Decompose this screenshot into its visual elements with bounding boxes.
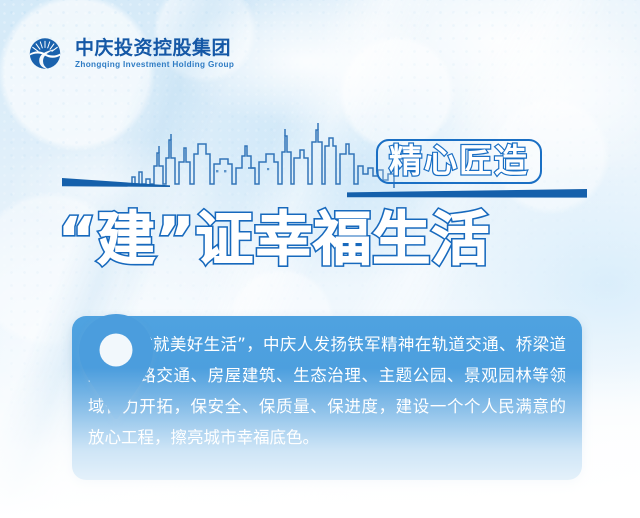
brand-name-en: Zhongqing Investment Holding Group [75, 61, 234, 69]
location-pin-icon [74, 310, 158, 422]
zhongqing-circle-sunburst-logo-icon [26, 36, 66, 72]
hero-headline-outline: “建”证幸福生活 [58, 203, 598, 275]
hero-kicker-badge: 精心匠造 [376, 139, 542, 184]
poster-canvas: 中庆投资控股集团 Zhongqing Investment Holding Gr… [0, 0, 640, 518]
brand-logo: 中庆投资控股集团 Zhongqing Investment Holding Gr… [26, 36, 234, 72]
body-paragraph: “建设·成就美好生活”，中庆人发扬铁军精神在轨道交通、桥梁道路、公路交通、房屋建… [88, 329, 566, 453]
hero-kicker-text: 精心匠造 [389, 144, 529, 177]
hero-headline-text-stroke: “建”证幸福生活 [58, 210, 490, 268]
brand-name-cn: 中庆投资控股集团 [75, 39, 234, 58]
decorative-rule-left [62, 178, 170, 187]
decorative-rule-right [347, 189, 587, 199]
